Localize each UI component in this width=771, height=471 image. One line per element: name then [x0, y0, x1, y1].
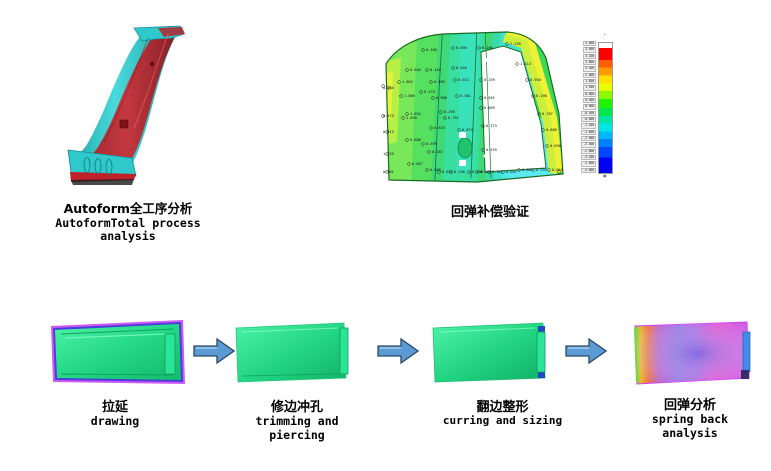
svg-text:1.863: 1.863: [402, 80, 413, 84]
legend-tick: 2.800: [583, 60, 596, 65]
legend-tick: -2.800: [581, 149, 596, 154]
svg-text:0.609: 0.609: [484, 106, 495, 110]
arrow-trimming-to-flanging: [377, 336, 419, 366]
svg-text:0.599: 0.599: [426, 142, 437, 146]
legend-tick: -2.400: [581, 142, 596, 147]
legend-tick: 2.000: [583, 73, 596, 78]
drawing-panel: [55, 324, 181, 380]
pillar-foot-shadow: [71, 179, 134, 185]
springback-center-blend: [635, 322, 749, 384]
caption-drawing-en-1: drawing: [50, 415, 180, 429]
caption-drawing: 拉延 drawing: [50, 400, 180, 429]
caption-trimming: 修边冲孔 trimming and piercing: [232, 400, 362, 442]
legend-tick: 4.000: [583, 41, 596, 46]
caption-springback-en-1: spring back: [625, 413, 755, 427]
stage-flanging-image: [425, 312, 555, 392]
svg-text:0.286: 0.286: [482, 46, 493, 50]
svg-text:0.234: 0.234: [383, 86, 394, 90]
a-pillar-part-image: [60, 8, 192, 190]
stage-trimming-image: [232, 312, 357, 392]
legend-tick: 3.600: [583, 47, 596, 52]
svg-text:0.279: 0.279: [424, 90, 435, 94]
legend-tick: -0.400: [581, 111, 596, 116]
svg-text:0.057: 0.057: [412, 162, 423, 166]
feature-hole-2: [459, 160, 466, 166]
svg-text:0.501: 0.501: [460, 94, 471, 98]
svg-text:0.827: 0.827: [442, 170, 453, 174]
svg-text:0.690: 0.690: [456, 46, 467, 50]
svg-text:0.913: 0.913: [458, 78, 469, 82]
legend-tick: -1.200: [581, 123, 596, 128]
caption-trimming-en-1: trimming and: [232, 415, 362, 429]
legend-color-bar: [598, 42, 613, 174]
pillar-pilot-hole: [150, 62, 154, 66]
contour-color-legend: ⌃ 4.000 3.600 3.200 2.800 2.400 2.000 1.…: [578, 32, 634, 184]
legend-tick: -3.600: [581, 161, 596, 166]
svg-text:0.051: 0.051: [506, 170, 517, 174]
svg-text:0.299: 0.299: [444, 110, 455, 114]
svg-text:0.347: 0.347: [492, 170, 503, 174]
legend-tick: 2.400: [583, 66, 596, 71]
caption-springback: 回弹分析 spring back analysis: [625, 398, 755, 440]
springback-side-flange: [743, 332, 750, 372]
svg-text:0.888: 0.888: [410, 138, 421, 142]
caption-left: Autoform全工序分析 AutoformTotal process anal…: [28, 202, 228, 244]
legend-bottom-marker: ◉: [603, 173, 607, 178]
legend-tick: -1.600: [581, 130, 596, 135]
svg-text:0.751: 0.751: [448, 116, 459, 120]
contour-bands: [381, 22, 573, 190]
svg-text:0.508: 0.508: [430, 168, 441, 172]
legend-tick: 1.200: [583, 85, 596, 90]
feature-dot-1: [483, 154, 486, 157]
feature-dot-2: [485, 58, 489, 62]
svg-text:0.630: 0.630: [550, 144, 561, 148]
svg-text:0.187: 0.187: [432, 150, 443, 154]
svg-text:1.229: 1.229: [383, 152, 394, 156]
svg-text:0.619: 0.619: [434, 126, 445, 130]
legend-tick: 0.400: [583, 98, 596, 103]
springback-contour-plot: 0.1660.690 0.2862.239 0.8460.416 0.5401.…: [381, 22, 573, 190]
svg-text:0.198: 0.198: [536, 94, 547, 98]
caption-springback-en-2: analysis: [625, 427, 755, 441]
svg-text:0.846: 0.846: [410, 68, 421, 72]
legend-tick: 0.800: [583, 92, 596, 97]
svg-text:0.899: 0.899: [434, 80, 445, 84]
stage-drawing-image: [45, 312, 190, 392]
legend-tick: 1.600: [583, 79, 596, 84]
svg-text:0.988: 0.988: [436, 96, 447, 100]
legend-tick: -0.800: [581, 117, 596, 122]
stage-springback-image: [625, 312, 760, 392]
springback-corner-dark: [741, 370, 749, 379]
svg-text:0.081: 0.081: [522, 168, 533, 172]
legend-tick: 0.000: [583, 104, 596, 109]
svg-text:0.373: 0.373: [486, 124, 497, 128]
svg-text:0.888: 0.888: [546, 128, 557, 132]
feature-hole-1: [459, 132, 466, 138]
caption-left-en-1: AutoformTotal process: [28, 217, 228, 231]
svg-text:0.298: 0.298: [454, 170, 465, 174]
svg-text:0.233: 0.233: [536, 168, 547, 172]
caption-springback-cn: 回弹分析: [625, 398, 755, 413]
legend-tick-list: 4.000 3.600 3.200 2.800 2.400 2.000 1.60…: [562, 41, 596, 173]
svg-text:0.901: 0.901: [383, 170, 394, 174]
svg-text:0.259: 0.259: [484, 78, 495, 82]
svg-text:1.414: 1.414: [520, 62, 531, 66]
svg-text:0.874: 0.874: [462, 128, 473, 132]
caption-right: 回弹补偿验证: [405, 205, 575, 220]
svg-text:0.540: 0.540: [456, 66, 467, 70]
legend-tick: -2.000: [581, 136, 596, 141]
caption-trimming-cn: 修边冲孔: [232, 400, 362, 415]
svg-text:0.707: 0.707: [542, 112, 553, 116]
legend-tick: 3.200: [583, 54, 596, 59]
flanging-side-flange: [537, 332, 545, 372]
pillar-bracket-hole: [120, 120, 128, 128]
legend-tick: -3.200: [581, 155, 596, 160]
svg-text:0.539: 0.539: [486, 148, 497, 152]
caption-flanging-en-1: curring and sizing: [430, 415, 575, 428]
legend-top-marker: ⌃: [603, 33, 606, 38]
caption-flanging-cn: 翻边整形: [430, 400, 575, 415]
legend-tick: -4.000: [581, 168, 596, 173]
svg-text:2.239: 2.239: [510, 42, 521, 46]
svg-text:0.501: 0.501: [484, 96, 495, 100]
arrow-drawing-to-trimming: [193, 336, 235, 366]
caption-flanging: 翻边整形 curring and sizing: [430, 400, 575, 428]
caption-drawing-cn: 拉延: [50, 400, 180, 415]
svg-text:0.950: 0.950: [530, 78, 541, 82]
latch-feature: [458, 138, 472, 158]
svg-text:0.413: 0.413: [383, 130, 394, 134]
caption-left-cn: Autoform全工序分析: [28, 202, 228, 217]
drawing-side-feature: [165, 334, 175, 374]
caption-right-cn: 回弹补偿验证: [405, 205, 575, 220]
svg-text:1.066: 1.066: [404, 94, 415, 98]
arrow-flanging-to-springback: [565, 336, 607, 366]
svg-text:0.323: 0.323: [480, 170, 491, 174]
caption-trimming-en-2: piercing: [232, 429, 362, 443]
slide-canvas: Autoform全工序分析 AutoformTotal process anal…: [0, 0, 771, 471]
svg-text:0.573: 0.573: [383, 114, 394, 118]
svg-text:0.416: 0.416: [430, 68, 441, 72]
caption-left-en-2: analysis: [28, 230, 228, 244]
svg-text:0.166: 0.166: [426, 48, 437, 52]
svg-text:1.058: 1.058: [406, 116, 417, 120]
trimming-side-flange: [340, 328, 348, 374]
